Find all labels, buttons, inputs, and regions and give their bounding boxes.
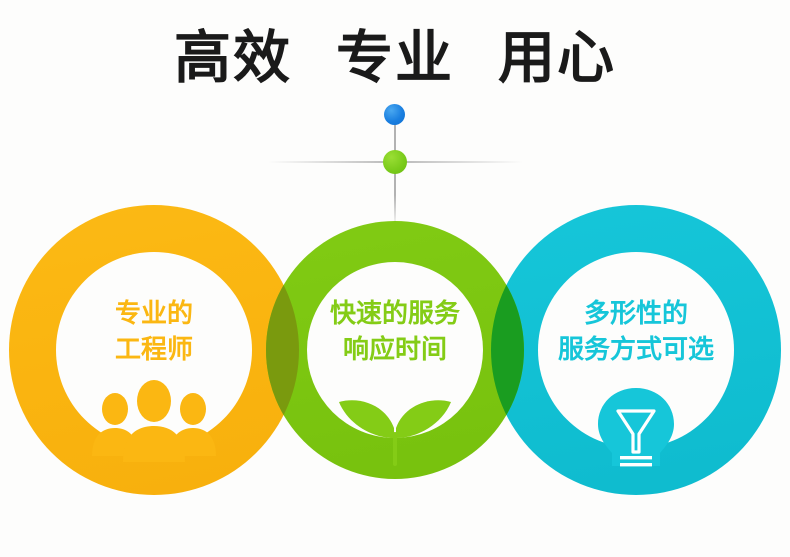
venn-rings-graphic [0, 0, 790, 557]
poster-canvas: 高效专业用心 [0, 0, 790, 557]
